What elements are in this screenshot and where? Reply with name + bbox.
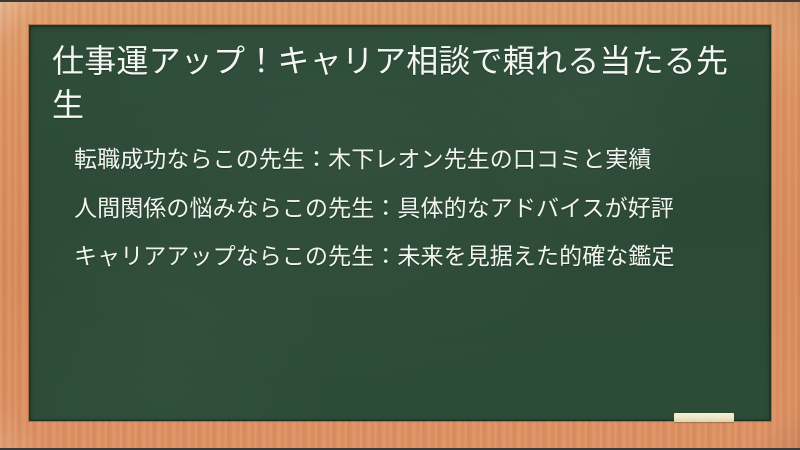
topic-list: 転職成功ならこの先生：木下レオン先生の口コミと実績 人間関係の悩みならこの先生：… [52, 143, 748, 273]
chalkboard-slide: 仕事運アップ！キャリア相談で頼れる当たる先生 転職成功ならこの先生：木下レオン先… [0, 0, 800, 450]
list-item: 転職成功ならこの先生：木下レオン先生の口コミと実績 [74, 143, 732, 176]
page-title: 仕事運アップ！キャリア相談で頼れる当たる先生 [52, 40, 748, 127]
list-item: キャリアアップならこの先生：未来を見据えた的確な鑑定 [74, 240, 732, 273]
chalkboard-surface: 仕事運アップ！キャリア相談で頼れる当たる先生 転職成功ならこの先生：木下レオン先… [29, 25, 771, 421]
chalkboard: 仕事運アップ！キャリア相談で頼れる当たる先生 転職成功ならこの先生：木下レオン先… [29, 25, 771, 421]
chalk-stick-icon [674, 413, 734, 422]
chalkboard-content: 仕事運アップ！キャリア相談で頼れる当たる先生 転職成功ならこの先生：木下レオン先… [30, 26, 770, 420]
list-item: 人間関係の悩みならこの先生：具体的なアドバイスが好評 [74, 192, 732, 225]
